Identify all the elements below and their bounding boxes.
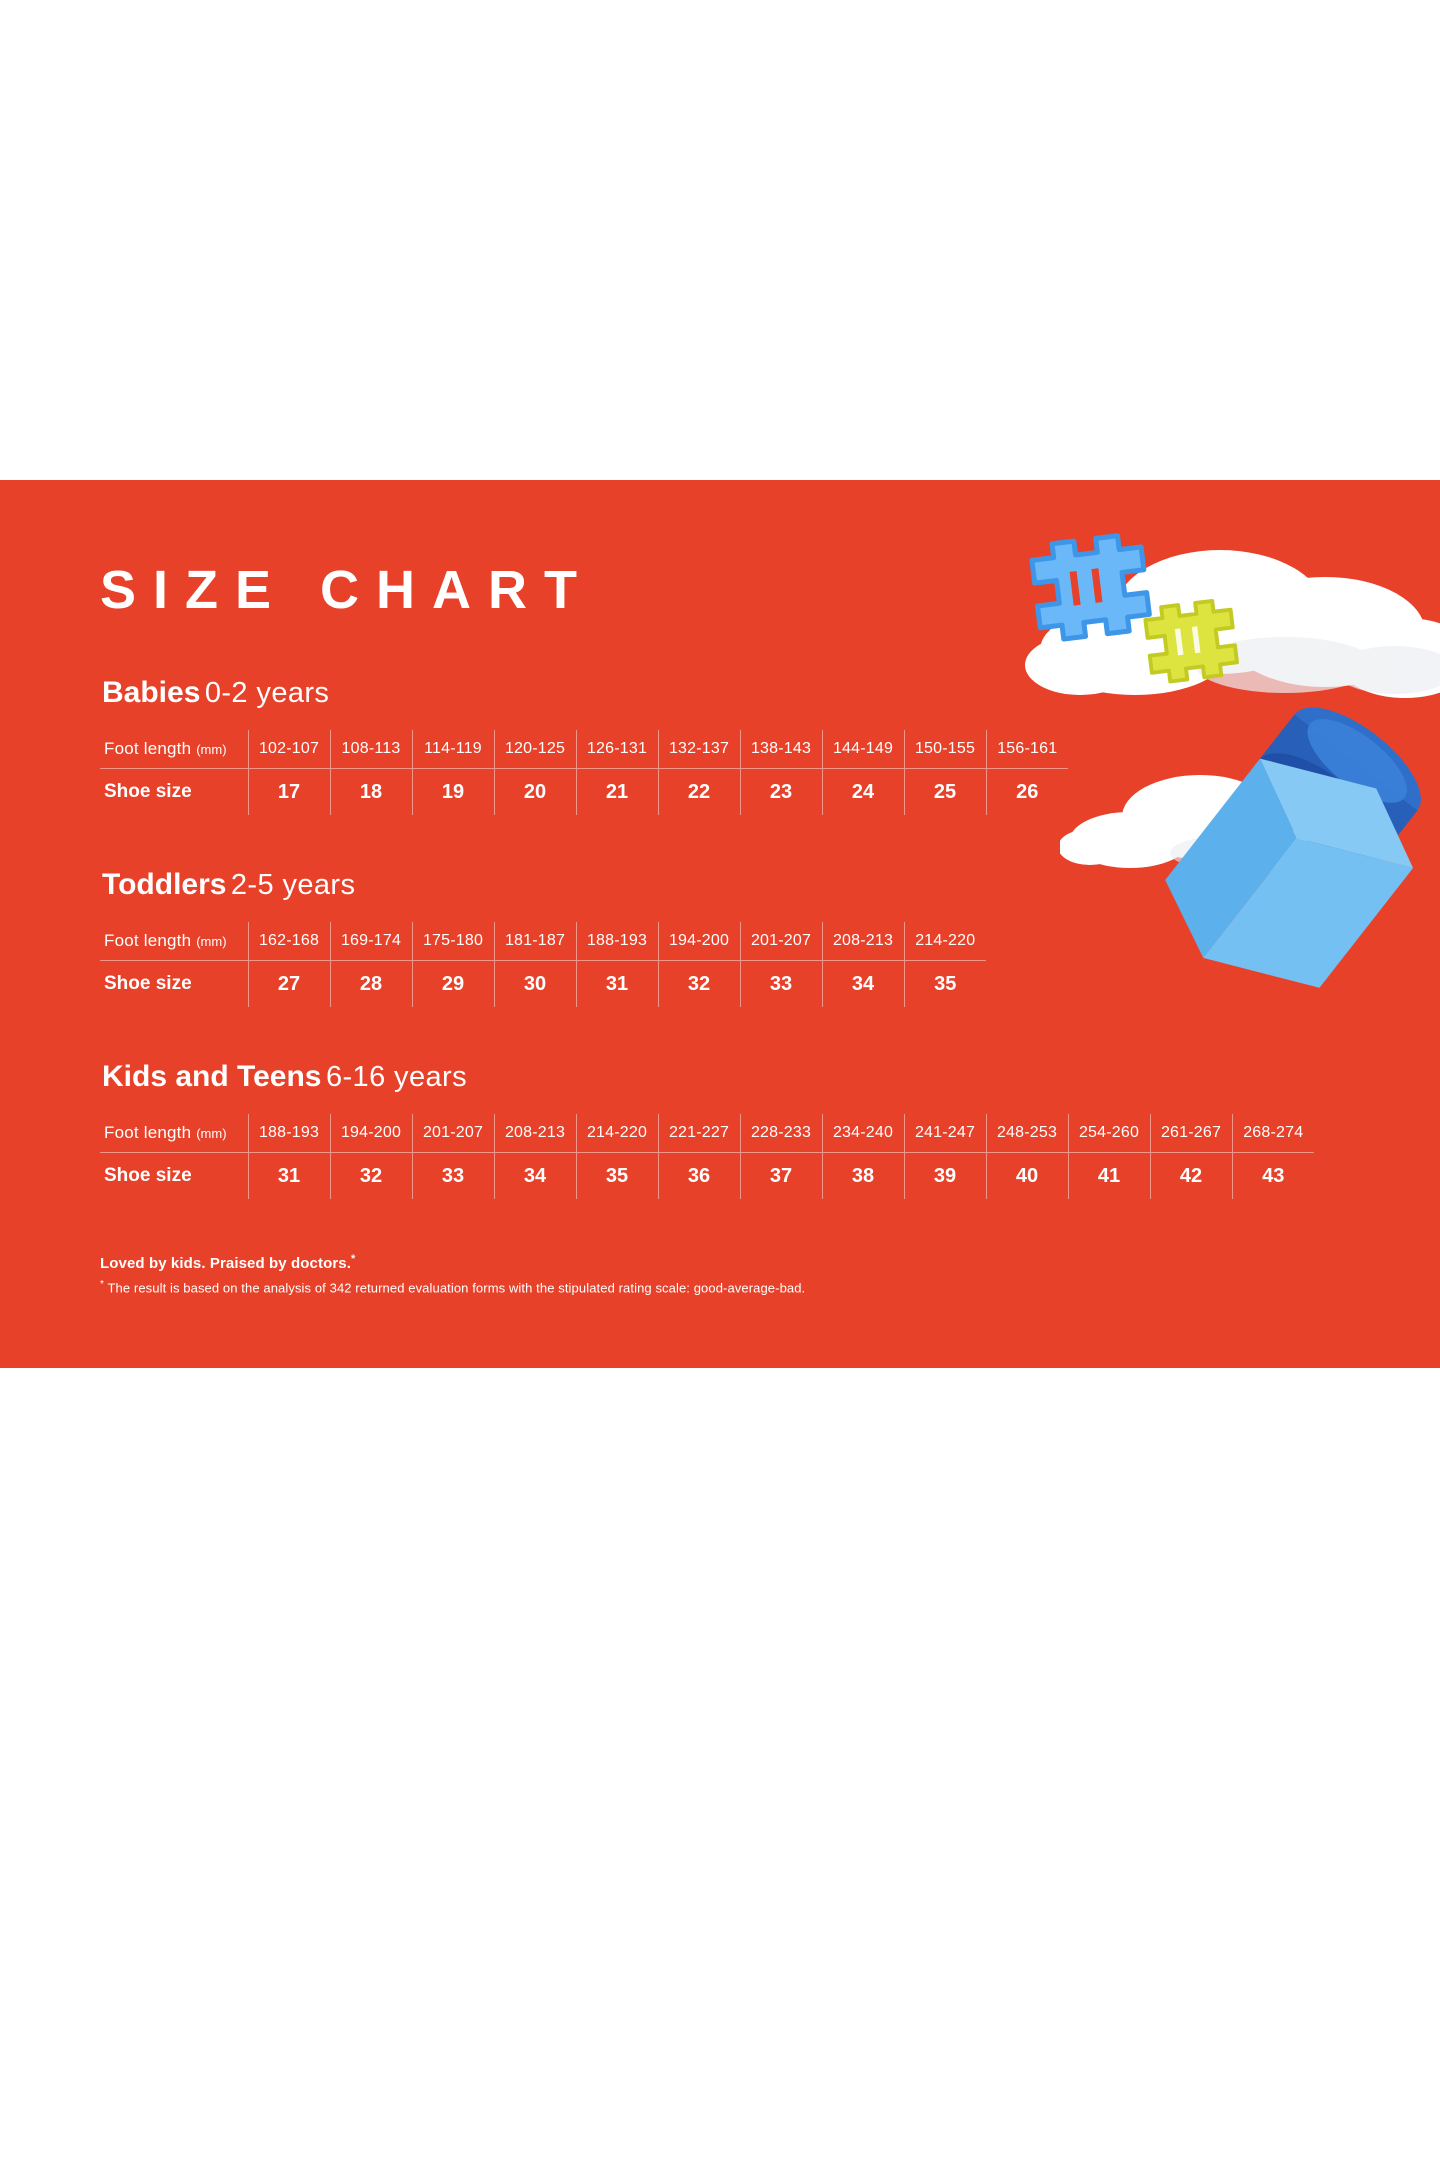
cell-shoe-size: 43 [1232,1153,1314,1200]
table-row: Shoe size 31 32 33 34 35 36 37 38 39 40 … [100,1153,1314,1200]
footnote-detail: * The result is based on the analysis of… [100,1279,805,1295]
page-title: SIZE CHART [100,563,594,617]
cell-shoe-size: 34 [822,961,904,1008]
section-age-label: 2-5 years [231,869,356,901]
cell-foot-length: 194-200 [330,1114,412,1153]
cell-foot-length: 114-119 [412,730,494,769]
cell-shoe-size: 31 [576,961,658,1008]
cell-foot-length: 194-200 [658,922,740,961]
row-label-shoe-size: Shoe size [100,961,248,1008]
cell-foot-length: 234-240 [822,1114,904,1153]
cell-foot-length: 102-107 [248,730,330,769]
section-heading-babies: Babies 0-2 years [102,678,1068,708]
section-group-label: Babies [102,676,200,709]
cell-shoe-size: 35 [904,961,986,1008]
cell-shoe-size: 30 [494,961,576,1008]
cell-shoe-size: 34 [494,1153,576,1200]
cell-shoe-size: 17 [248,769,330,816]
cell-shoe-size: 39 [904,1153,986,1200]
cell-foot-length: 221-227 [658,1114,740,1153]
cell-shoe-size: 28 [330,961,412,1008]
section-heading-toddlers: Toddlers 2-5 years [102,870,986,900]
cell-shoe-size: 23 [740,769,822,816]
unit-label: (mm) [196,1126,226,1141]
cell-foot-length: 254-260 [1068,1114,1150,1153]
section-age-label: 6-16 years [326,1061,467,1093]
section-toddlers: Toddlers 2-5 years Foot length (mm) 162-… [100,870,986,1007]
cell-foot-length: 169-174 [330,922,412,961]
cell-shoe-size: 33 [740,961,822,1008]
cell-foot-length: 228-233 [740,1114,822,1153]
cell-shoe-size: 38 [822,1153,904,1200]
cell-shoe-size: 27 [248,961,330,1008]
cell-foot-length: 201-207 [412,1114,494,1153]
footnote-tagline: Loved by kids. Praised by doctors.* [100,1253,805,1272]
cell-foot-length: 156-161 [986,730,1068,769]
cell-shoe-size: 19 [412,769,494,816]
cell-shoe-size: 20 [494,769,576,816]
row-label-shoe-size: Shoe size [100,769,248,816]
cell-foot-length: 126-131 [576,730,658,769]
toy-brick-icon [1160,705,1440,1035]
size-table-babies: Foot length (mm) 102-107 108-113 114-119… [100,730,1068,815]
cell-shoe-size: 21 [576,769,658,816]
cloud-icon [1060,745,1390,895]
section-age-label: 0-2 years [205,677,330,709]
table-row: Foot length (mm) 102-107 108-113 114-119… [100,730,1068,769]
footnote-block: Loved by kids. Praised by doctors.* * Th… [100,1253,805,1295]
table-row: Shoe size 17 18 19 20 21 22 23 24 25 26 [100,769,1068,816]
cell-foot-length: 162-168 [248,922,330,961]
cell-shoe-size: 36 [658,1153,740,1200]
cell-foot-length: 120-125 [494,730,576,769]
cell-shoe-size: 31 [248,1153,330,1200]
section-heading-kids-and-teens: Kids and Teens 6-16 years [102,1062,1314,1092]
cell-foot-length: 248-253 [986,1114,1068,1153]
cell-shoe-size: 22 [658,769,740,816]
cell-shoe-size: 26 [986,769,1068,816]
table-row: Shoe size 27 28 29 30 31 32 33 34 35 [100,961,986,1008]
cell-foot-length: 208-213 [822,922,904,961]
size-chart-panel: SIZE CHART Babies 0-2 years Foot length … [0,480,1440,1368]
cell-foot-length: 132-137 [658,730,740,769]
cell-shoe-size: 35 [576,1153,658,1200]
cell-foot-length: 201-207 [740,922,822,961]
cell-shoe-size: 29 [412,961,494,1008]
cell-shoe-size: 40 [986,1153,1068,1200]
cell-foot-length: 181-187 [494,922,576,961]
cell-foot-length: 144-149 [822,730,904,769]
cell-shoe-size: 41 [1068,1153,1150,1200]
cell-foot-length: 261-267 [1150,1114,1232,1153]
row-label-foot-length: Foot length (mm) [100,730,248,769]
section-group-label: Toddlers [102,868,226,901]
cloud-icon [985,540,1440,700]
cell-foot-length: 241-247 [904,1114,986,1153]
cell-shoe-size: 33 [412,1153,494,1200]
cell-foot-length: 175-180 [412,922,494,961]
cell-foot-length: 188-193 [248,1114,330,1153]
section-group-label: Kids and Teens [102,1060,322,1093]
table-row: Foot length (mm) 188-193 194-200 201-207… [100,1114,1314,1153]
cell-shoe-size: 25 [904,769,986,816]
row-label-foot-length: Foot length (mm) [100,1114,248,1153]
cell-foot-length: 268-274 [1232,1114,1314,1153]
table-row: Foot length (mm) 162-168 169-174 175-180… [100,922,986,961]
row-label-foot-length: Foot length (mm) [100,922,248,961]
unit-label: (mm) [196,934,226,949]
size-table-toddlers: Foot length (mm) 162-168 169-174 175-180… [100,922,986,1007]
cell-shoe-size: 18 [330,769,412,816]
cell-foot-length: 208-213 [494,1114,576,1153]
cell-shoe-size: 32 [658,961,740,1008]
cell-foot-length: 214-220 [576,1114,658,1153]
cell-shoe-size: 37 [740,1153,822,1200]
size-table-kids-and-teens: Foot length (mm) 188-193 194-200 201-207… [100,1114,1314,1199]
footnote-marker: * [351,1253,355,1265]
cell-shoe-size: 24 [822,769,904,816]
cell-foot-length: 150-155 [904,730,986,769]
unit-label: (mm) [196,742,226,757]
cell-foot-length: 214-220 [904,922,986,961]
row-label-shoe-size: Shoe size [100,1153,248,1200]
cell-shoe-size: 32 [330,1153,412,1200]
cell-foot-length: 138-143 [740,730,822,769]
cell-foot-length: 188-193 [576,922,658,961]
cell-foot-length: 108-113 [330,730,412,769]
section-babies: Babies 0-2 years Foot length (mm) 102-10… [100,678,1068,815]
cell-shoe-size: 42 [1150,1153,1232,1200]
section-kids-and-teens: Kids and Teens 6-16 years Foot length (m… [100,1062,1314,1199]
